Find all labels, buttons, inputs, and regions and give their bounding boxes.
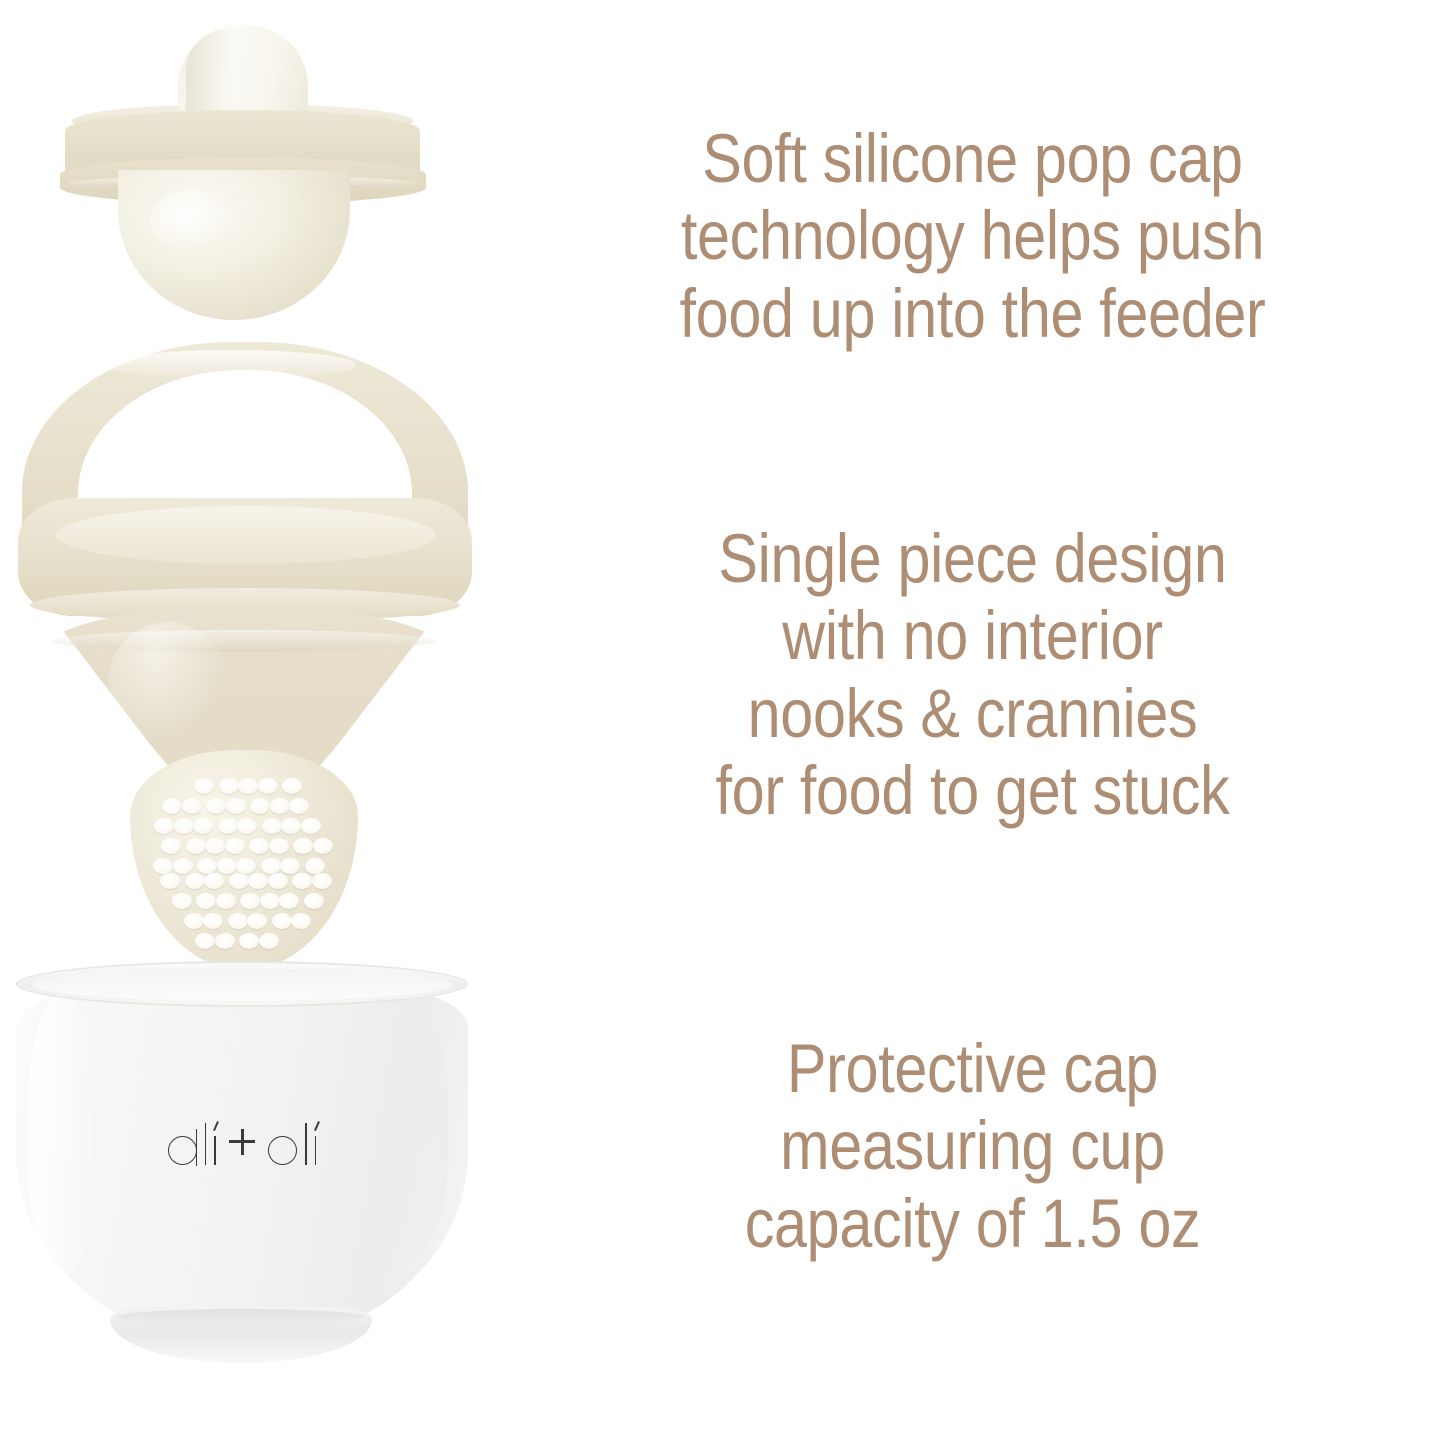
feature-1-line-1: Soft silicone pop cap — [566, 120, 1379, 197]
teat-perforation-icon — [240, 893, 260, 909]
teat-perforation-icon — [154, 818, 174, 834]
feature-2-line-3: nooks & crannies — [566, 675, 1379, 752]
teat-perforation-icon — [226, 798, 246, 814]
feature-2-line-2: with no interior — [566, 597, 1379, 674]
brand-logo-oli — [268, 1123, 316, 1165]
pop-cap-ball-highlight — [150, 190, 236, 252]
teat-perforation-icon — [258, 778, 278, 794]
logo-letter-i-2 — [315, 1136, 317, 1165]
teat-perforation-icon — [293, 838, 313, 854]
teat-perforation-icon — [194, 778, 214, 794]
teat-perforation-icon — [280, 858, 300, 874]
teat-perforation-icon — [301, 818, 321, 834]
teat-perforation-icon — [239, 933, 259, 949]
teat-perforation-icon — [312, 873, 332, 889]
teat-perforation-icon — [247, 913, 267, 929]
teat-perforation-icon — [160, 873, 180, 889]
brand-logo-ali — [168, 1123, 216, 1165]
teat-perforation-icon — [185, 873, 205, 889]
pop-cap-ball-icon — [118, 170, 350, 320]
feature-callout-2: Single piece design with no interior noo… — [566, 520, 1379, 829]
brand-logo — [0, 1123, 484, 1165]
measuring-cup-component — [0, 955, 500, 1405]
feature-text-column: Soft silicone pop cap technology helps p… — [500, 0, 1445, 1445]
teat-perforation-icon — [186, 838, 206, 854]
pop-cap-component — [0, 0, 500, 330]
teat-perforation-icon — [313, 838, 333, 854]
feature-1-line-2: technology helps push — [566, 197, 1379, 274]
teat-perforation-icon — [219, 778, 239, 794]
product-exploded-view — [0, 0, 500, 1445]
teat-perforation-icon — [249, 838, 269, 854]
teat-perforation-icon — [197, 858, 217, 874]
teat-perforation-icon — [173, 858, 193, 874]
teat-perforation-icon — [229, 873, 249, 889]
teat-perforation-icon — [196, 893, 216, 909]
teat-perforation-icon — [291, 913, 311, 929]
teat-perforation-icon — [236, 858, 256, 874]
logo-letter-o — [268, 1136, 297, 1165]
teat-perforation-icon — [204, 873, 224, 889]
teat-perforation-icon — [282, 778, 302, 794]
teat-perforation-icon — [153, 858, 173, 874]
logo-letter-l — [205, 1123, 207, 1165]
teat-perforation-icon — [269, 838, 289, 854]
feeder-teat-icon — [130, 750, 358, 970]
logo-letter-a — [168, 1136, 197, 1165]
teat-perforation-icon — [182, 798, 202, 814]
teat-perforation-icon — [203, 913, 223, 929]
feature-3-line-1: Protective cap — [566, 1030, 1379, 1107]
feeder-funnel-ring — [52, 630, 436, 652]
feature-2-line-1: Single piece design — [566, 520, 1379, 597]
teat-perforation-icon — [217, 858, 237, 874]
teat-perforation-icon — [248, 873, 268, 889]
teat-perforation-icon — [205, 838, 225, 854]
teat-perforation-icon — [216, 893, 236, 909]
teat-perforation-icon — [218, 818, 238, 834]
teat-perforation-icon — [281, 818, 301, 834]
feature-callout-1: Soft silicone pop cap technology helps p… — [566, 120, 1379, 352]
logo-letter-i — [214, 1136, 216, 1165]
measuring-cup-rim-inner — [32, 969, 452, 1001]
teat-perforation-icon — [250, 798, 270, 814]
teat-perforation-icon — [206, 798, 226, 814]
feature-2-line-4: for food to get stuck — [566, 752, 1379, 829]
feeder-handle-highlight — [106, 350, 356, 380]
teat-perforation-icon — [260, 893, 280, 909]
teat-perforation-icon — [195, 933, 215, 949]
feature-3-line-3: capacity of 1.5 oz — [566, 1185, 1379, 1262]
feeder-component — [0, 330, 500, 970]
measuring-cup-foot-highlight — [116, 1309, 366, 1325]
logo-plus-icon — [229, 1129, 255, 1155]
product-infographic: Soft silicone pop cap technology helps p… — [0, 0, 1445, 1445]
teat-perforation-icon — [228, 913, 248, 929]
teat-perforation-icon — [193, 818, 213, 834]
teat-perforation-icon — [184, 913, 204, 929]
teat-perforation-icon — [261, 858, 281, 874]
teat-perforation-icon — [238, 778, 258, 794]
teat-perforation-icon — [174, 818, 194, 834]
feature-3-line-2: measuring cup — [566, 1107, 1379, 1184]
teat-perforation-icon — [305, 858, 325, 874]
teat-perforation-icon — [259, 933, 279, 949]
teat-perforation-icon — [304, 893, 324, 909]
teat-perforation-icon — [262, 818, 282, 834]
teat-perforation-icon — [270, 798, 290, 814]
feeder-collar-inner-rim — [56, 506, 436, 564]
logo-letter-l-2 — [305, 1123, 307, 1165]
teat-perforation-icon — [292, 873, 312, 889]
teat-perforation-icon — [172, 893, 192, 909]
feeder-funnel-highlight — [108, 622, 228, 742]
feature-callout-3: Protective cap measuring cup capacity of… — [566, 1030, 1379, 1262]
teat-perforation-icon — [225, 838, 245, 854]
teat-perforation-icon — [289, 798, 309, 814]
teat-perforation-icon — [237, 818, 257, 834]
teat-perforation-icon — [162, 798, 182, 814]
teat-perforation-icon — [279, 893, 299, 909]
teat-perforation-icon — [272, 913, 292, 929]
teat-perforation-icon — [215, 933, 235, 949]
teat-perforation-icon — [268, 873, 288, 889]
feature-1-line-3: food up into the feeder — [566, 275, 1379, 352]
teat-perforation-icon — [161, 838, 181, 854]
